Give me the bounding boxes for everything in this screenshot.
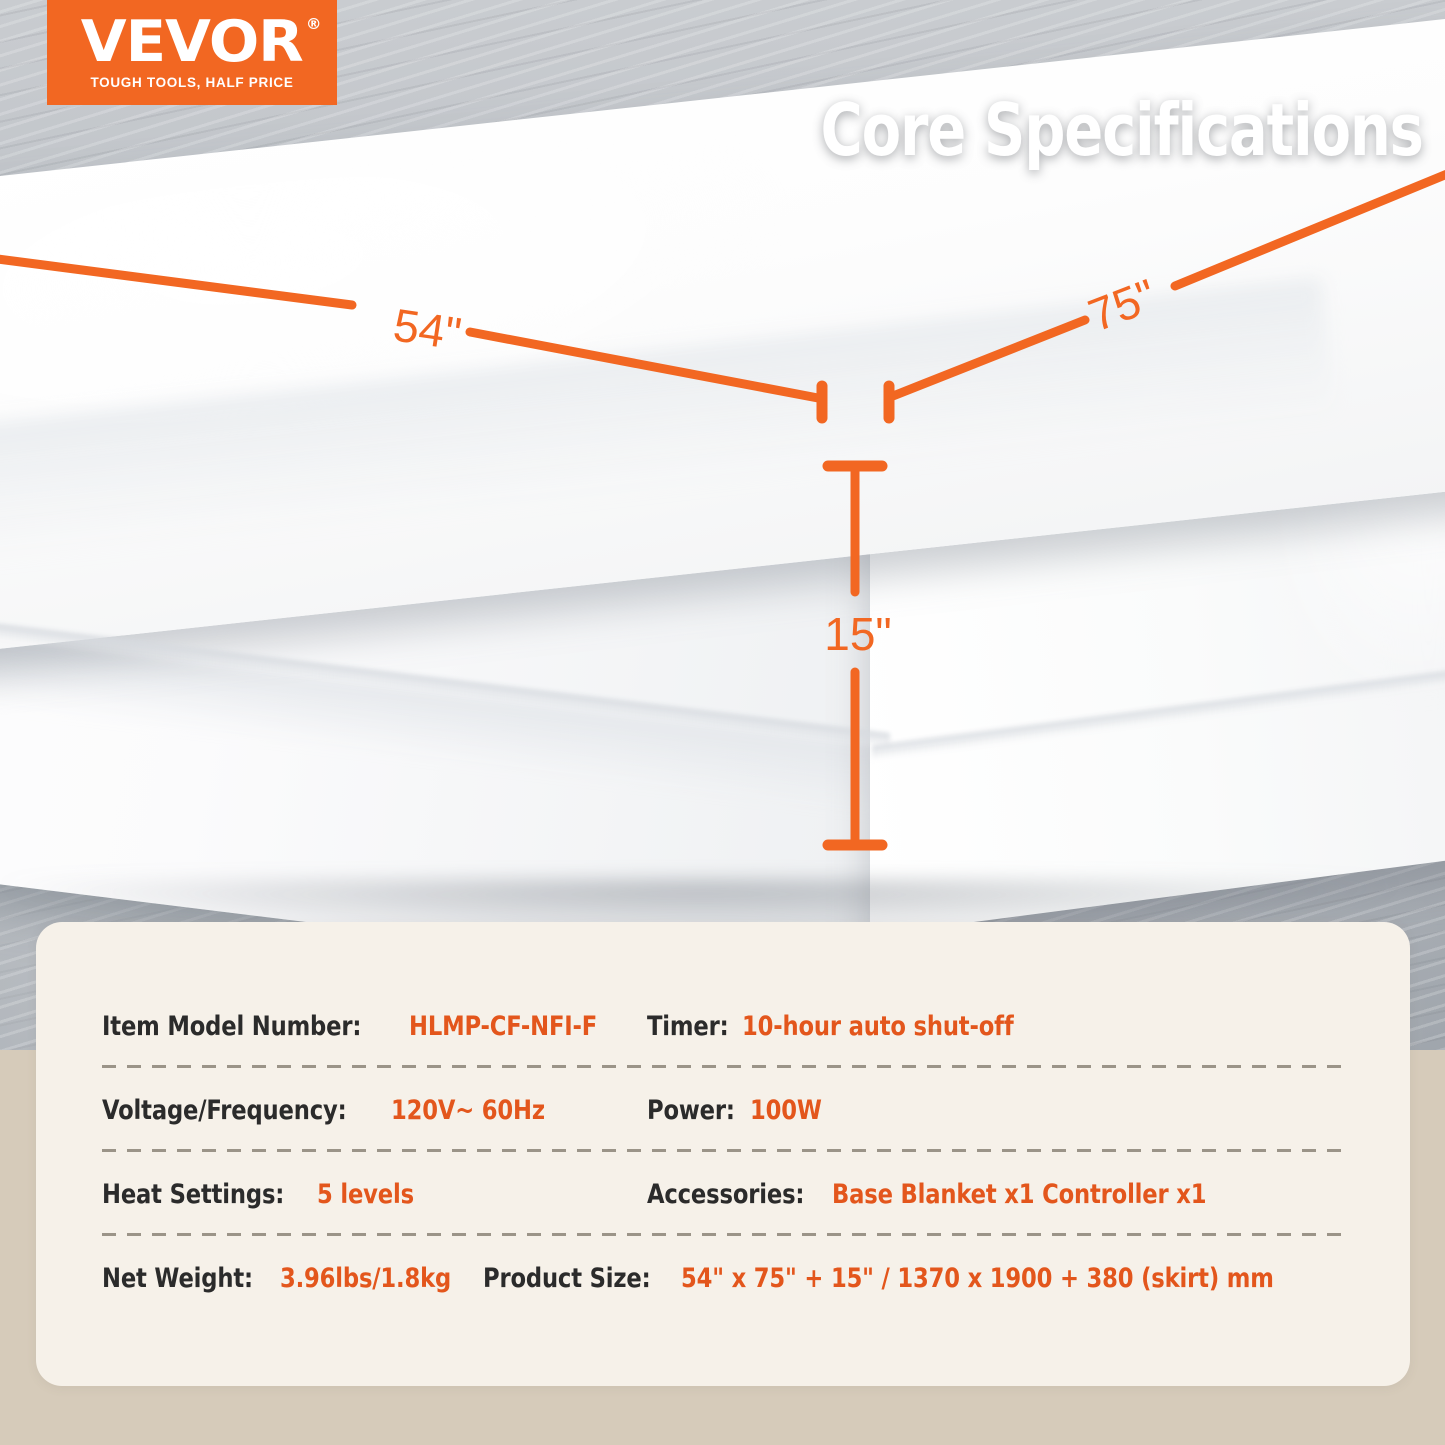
product-spec-infographic: 54" 75" 15" VEVOR® TOUGH TOOLS, HALF PRI… — [0, 0, 1445, 1445]
width-dimension-line-right — [470, 332, 818, 398]
table-row: Voltage/Frequency: 120V~ 60Hz Power: 100… — [102, 1068, 1344, 1152]
spec-cell-timer: Timer: 10-hour auto shut-off — [647, 1011, 1065, 1042]
length-dimension-line-lower — [893, 320, 1085, 396]
vevor-logo: VEVOR® TOUGH TOOLS, HALF PRICE — [47, 0, 337, 105]
length-dimension-line-upper — [1175, 172, 1445, 286]
brand-name: VEVOR® — [81, 15, 303, 69]
spec-label: Timer: — [647, 1011, 729, 1042]
spec-value: 54" x 75" + 15" / 1370 x 1900 + 380 (ski… — [681, 1263, 1274, 1294]
spec-value: 3.96lbs/1.8kg — [280, 1263, 451, 1294]
spec-cell-accessories: Accessories: Base Blanket x1 Controller … — [647, 1179, 1278, 1210]
spec-label: Voltage/Frequency: — [102, 1095, 347, 1126]
spec-value: Base Blanket x1 Controller x1 — [832, 1179, 1206, 1210]
spec-value: 100W — [750, 1095, 822, 1126]
spec-cell-heat-settings: Heat Settings: 5 levels — [102, 1179, 647, 1210]
page-title: Core Specifications — [821, 88, 1423, 172]
specifications-table: Item Model Number: HLMP-CF-NFI-F Timer: … — [102, 984, 1344, 1320]
width-dimension-label: 54" — [390, 298, 464, 359]
spec-cell-voltage: Voltage/Frequency: 120V~ 60Hz — [102, 1095, 647, 1126]
spec-value: 120V~ 60Hz — [391, 1095, 545, 1126]
registered-trademark-icon: ® — [306, 17, 321, 31]
spec-label: Accessories: — [647, 1179, 804, 1210]
spec-cell-net-weight: Net Weight: 3.96lbs/1.8kg — [102, 1263, 483, 1294]
spec-cell-power: Power: 100W — [647, 1095, 835, 1126]
spec-label: Net Weight: — [102, 1263, 253, 1294]
spec-label: Item Model Number: — [102, 1011, 361, 1042]
length-dimension-label: 75" — [1081, 269, 1163, 342]
specifications-card: Item Model Number: HLMP-CF-NFI-F Timer: … — [36, 922, 1410, 1386]
table-row: Item Model Number: HLMP-CF-NFI-F Timer: … — [102, 984, 1344, 1068]
spec-label: Power: — [647, 1095, 735, 1126]
spec-label: Heat Settings: — [102, 1179, 284, 1210]
table-row: Heat Settings: 5 levels Accessories: Bas… — [102, 1152, 1344, 1236]
spec-value: 10-hour auto shut-off — [742, 1011, 1014, 1042]
table-row: Net Weight: 3.96lbs/1.8kg Product Size: … — [102, 1236, 1344, 1320]
depth-dimension-label: 15" — [824, 608, 892, 660]
spec-cell-model: Item Model Number: HLMP-CF-NFI-F — [102, 1011, 647, 1042]
width-dimension-line-left — [0, 258, 352, 305]
spec-value: HLMP-CF-NFI-F — [409, 1011, 597, 1042]
spec-cell-product-size: Product Size: 54" x 75" + 15" / 1370 x 1… — [483, 1263, 1386, 1294]
spec-label: Product Size: — [483, 1263, 651, 1294]
brand-tagline: TOUGH TOOLS, HALF PRICE — [90, 75, 293, 90]
spec-value: 5 levels — [317, 1179, 414, 1210]
